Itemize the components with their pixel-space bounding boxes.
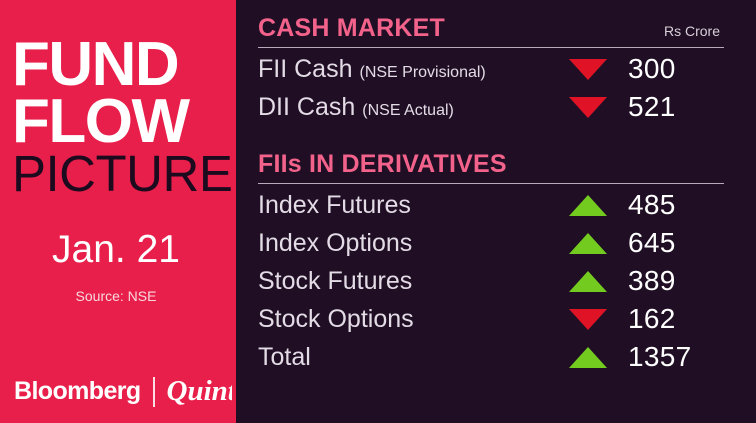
fund-flow-infographic: FUND FLOW PICTURE Jan. 21 Source: NSE Bl… [0, 0, 756, 423]
row-label-main: Total [258, 343, 311, 372]
row-trend-indicator [554, 347, 622, 368]
row-value: 162 [622, 303, 724, 335]
brand-logo: Bloomberg Quint [14, 375, 232, 408]
brand-bloomberg-text: Bloomberg [14, 377, 141, 406]
table-row: Stock Options 162 [258, 300, 724, 338]
triangle-up-icon [569, 271, 607, 292]
row-label: Index Futures [258, 191, 554, 220]
row-label: Index Options [258, 229, 554, 258]
row-trend-indicator [554, 59, 622, 80]
row-label-main: FII Cash [258, 55, 352, 84]
row-label: Stock Futures [258, 267, 554, 296]
triangle-down-icon [569, 309, 607, 330]
section-cash-market: CASH MARKET Rs Crore FII Cash (NSE Provi… [258, 14, 724, 126]
section-title: FIIs IN DERIVATIVES [258, 150, 507, 179]
table-row: FII Cash (NSE Provisional) 300 [258, 50, 724, 88]
triangle-up-icon [569, 233, 607, 254]
unit-label: Rs Crore [664, 23, 724, 39]
row-label-main: Index Futures [258, 191, 411, 220]
section-header: FIIs IN DERIVATIVES [258, 150, 724, 183]
table-row: Index Options 645 [258, 224, 724, 262]
row-value: 645 [622, 227, 724, 259]
section-fiis-in-derivatives: FIIs IN DERIVATIVES Index Futures 485 In… [258, 150, 724, 376]
table-row-total: Total 1357 [258, 338, 724, 376]
row-value: 389 [622, 265, 724, 297]
row-value: 1357 [622, 341, 724, 373]
title-panel: FUND FLOW PICTURE Jan. 21 Source: NSE Bl… [0, 0, 232, 423]
row-label: DII Cash (NSE Actual) [258, 93, 554, 122]
title-block: FUND FLOW PICTURE [12, 36, 226, 200]
row-label-sub: (NSE Actual) [362, 102, 454, 120]
cash-market-rows: FII Cash (NSE Provisional) 300 DII Cash … [258, 50, 724, 126]
section-rule [258, 47, 724, 48]
row-label-main: DII Cash [258, 93, 355, 122]
triangle-down-icon [569, 97, 607, 118]
title-word-flow: FLOW [12, 93, 226, 150]
row-label: Stock Options [258, 305, 554, 334]
brand-divider [153, 377, 155, 407]
row-trend-indicator [554, 195, 622, 216]
row-label-sub: (NSE Provisional) [359, 64, 485, 82]
table-row: DII Cash (NSE Actual) 521 [258, 88, 724, 126]
row-value: 485 [622, 189, 724, 221]
row-label: Total [258, 343, 554, 372]
triangle-down-icon [569, 59, 607, 80]
title-word-fund: FUND [12, 36, 226, 93]
row-label-main: Index Options [258, 229, 412, 258]
title-word-picture: PICTURE [12, 148, 226, 200]
row-trend-indicator [554, 309, 622, 330]
row-trend-indicator [554, 233, 622, 254]
brand-quint-text: Quint [167, 375, 232, 408]
section-title: CASH MARKET [258, 14, 445, 43]
source-label: Source: NSE [0, 288, 232, 304]
row-trend-indicator [554, 271, 622, 292]
section-rule [258, 183, 724, 184]
derivatives-rows: Index Futures 485 Index Options 645 [258, 186, 724, 376]
section-header: CASH MARKET Rs Crore [258, 14, 724, 47]
row-label-main: Stock Options [258, 305, 414, 334]
date-label: Jan. 21 [0, 228, 232, 272]
row-label-main: Stock Futures [258, 267, 412, 296]
triangle-up-icon [569, 347, 607, 368]
triangle-up-icon [569, 195, 607, 216]
row-value: 521 [622, 91, 724, 123]
row-trend-indicator [554, 97, 622, 118]
row-value: 300 [622, 53, 724, 85]
table-row: Index Futures 485 [258, 186, 724, 224]
row-label: FII Cash (NSE Provisional) [258, 55, 554, 84]
data-panel: CASH MARKET Rs Crore FII Cash (NSE Provi… [236, 0, 756, 423]
table-row: Stock Futures 389 [258, 262, 724, 300]
